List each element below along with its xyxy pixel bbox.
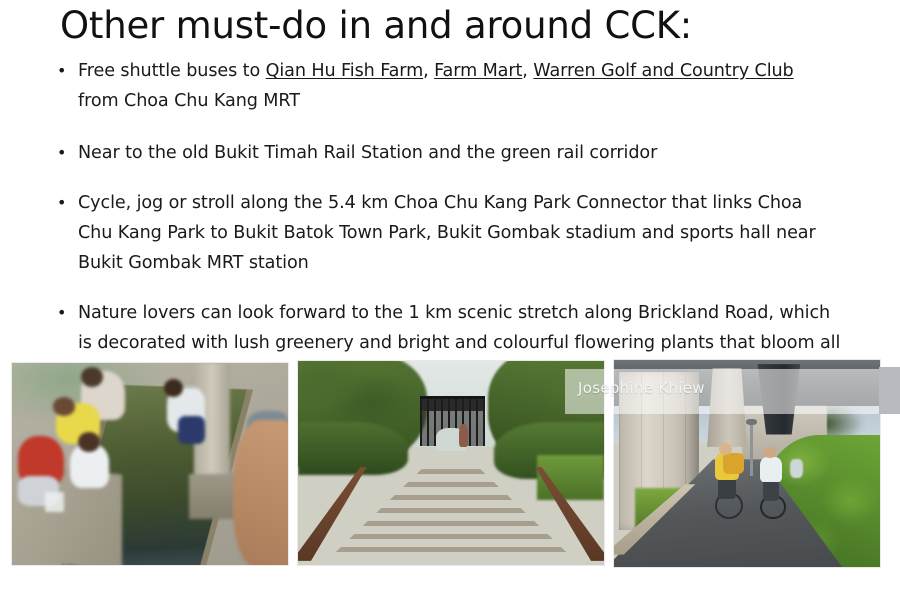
cyclist-leg-shape bbox=[718, 478, 737, 499]
foreground-arm-shape bbox=[233, 420, 289, 566]
bullet-line: Nature lovers can look forward to the 1 … bbox=[78, 298, 842, 328]
link-farm-mart[interactable]: Farm Mart bbox=[434, 61, 522, 81]
bullet-line: from Choa Chu Kang MRT bbox=[78, 86, 842, 116]
backpack-shape bbox=[723, 453, 744, 474]
cup-shape bbox=[45, 492, 64, 512]
pillar-base-shape bbox=[189, 474, 236, 518]
bullet-item: • Free shuttle buses to Qian Hu Fish Far… bbox=[52, 56, 842, 116]
child-shorts-shape bbox=[178, 416, 206, 444]
person-figure-shape bbox=[459, 424, 469, 446]
bullet-text: Free shuttle buses to bbox=[78, 61, 266, 81]
bullet-line: Bukit Gombak MRT station bbox=[78, 248, 842, 278]
lamp-head-shape bbox=[746, 419, 757, 425]
bullet-marker: • bbox=[57, 56, 66, 86]
child-head-shape bbox=[53, 397, 75, 415]
cyclist-leg-shape bbox=[763, 480, 779, 501]
bullet-marker: • bbox=[57, 138, 66, 168]
bullet-marker: • bbox=[57, 298, 66, 328]
watermark-text: Josephine Khiew bbox=[578, 379, 705, 397]
lamp-post-shape bbox=[750, 422, 754, 476]
cyclist-body-shape bbox=[760, 457, 781, 482]
bullet-line: is decorated with lush greenery and brig… bbox=[78, 328, 842, 358]
bullet-line: Cycle, jog or stroll along the 5.4 km Ch… bbox=[78, 188, 842, 218]
photo-railway-track bbox=[297, 360, 605, 566]
watermark-block bbox=[879, 367, 900, 414]
cyclist-distant-shape bbox=[790, 459, 803, 478]
page-title: Other must-do in and around CCK: bbox=[60, 4, 692, 47]
bullet-list: • Free shuttle buses to Qian Hu Fish Far… bbox=[52, 56, 842, 394]
bullet-marker: • bbox=[57, 188, 66, 218]
link-warren-golf-and-country-club[interactable]: Warren Golf and Country Club bbox=[533, 61, 793, 81]
bullet-line: Chu Kang Park to Bukit Batok Town Park, … bbox=[78, 218, 842, 248]
bullet-item: • Near to the old Bukit Timah Rail Stati… bbox=[52, 138, 842, 168]
link-qian-hu-fish-farm[interactable]: Qian Hu Fish Farm bbox=[266, 61, 424, 81]
child-head-shape bbox=[78, 432, 100, 452]
bullet-line: Near to the old Bukit Timah Rail Station… bbox=[78, 138, 842, 168]
presentation-slide: Other must-do in and around CCK: • Free … bbox=[0, 0, 900, 592]
bullet-line: Free shuttle buses to Qian Hu Fish Farm,… bbox=[78, 56, 842, 86]
bullet-text: , bbox=[423, 61, 434, 81]
bullet-text: , bbox=[522, 61, 533, 81]
bullet-item: • Cycle, jog or stroll along the 5.4 km … bbox=[52, 188, 842, 278]
photo-fish-farm bbox=[11, 362, 289, 566]
